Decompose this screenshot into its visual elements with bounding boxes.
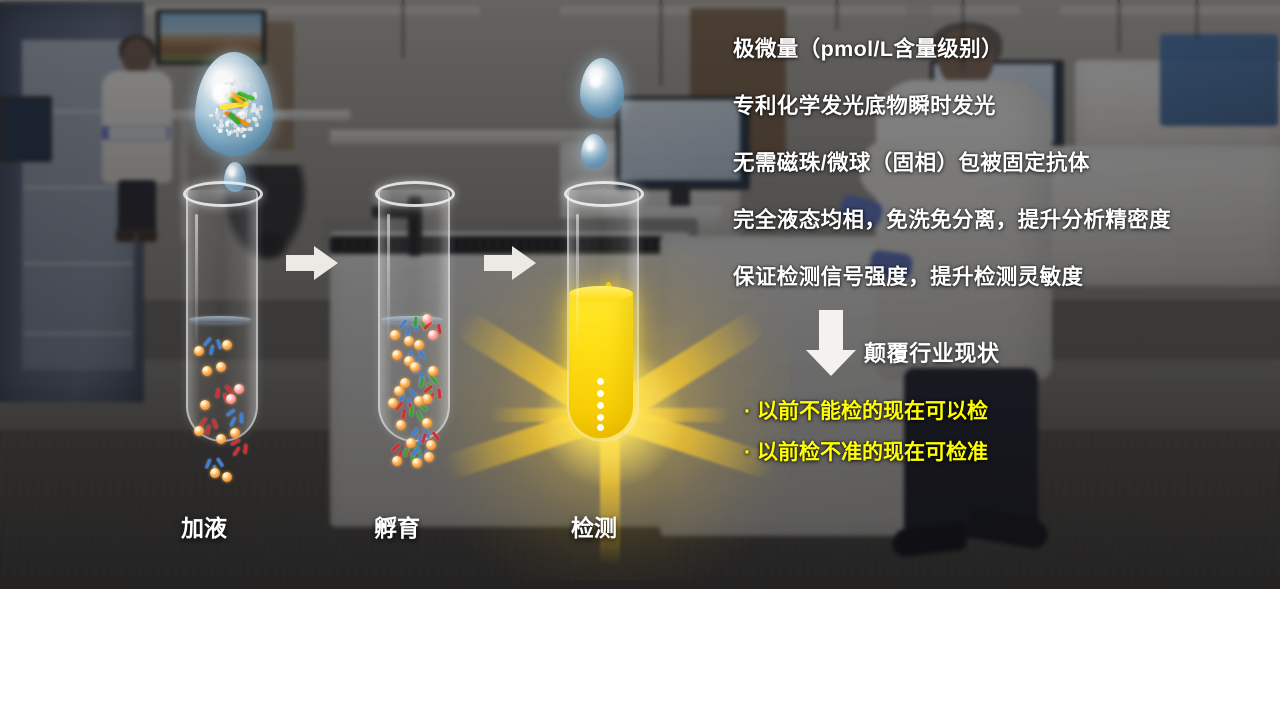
bullet-marker: · [744, 441, 751, 465]
bottom-white-margin [0, 589, 1280, 720]
conclusion-point-2-text: 以前检不准的现在可检准 [757, 441, 988, 464]
molecule-atom [219, 93, 222, 96]
step-label-2: 孵育 [374, 509, 420, 543]
molecule-atom [216, 92, 219, 95]
molecule-atom [226, 87, 229, 90]
conclusion-point-1: ·以前不能检的现在可以检 [744, 395, 988, 425]
antigen-particle [392, 456, 402, 466]
bubble [597, 424, 604, 431]
antigen-particle [428, 330, 438, 340]
arrow-shaft [819, 310, 843, 352]
antigen-particle [388, 398, 398, 408]
arrow-right-icon [286, 246, 338, 280]
antigen-particle [428, 366, 438, 376]
feature-line-4: 完全液态均相，免洗免分离，提升分析精密度 [733, 203, 1171, 234]
antigen-particle [226, 394, 236, 404]
tube-rim [183, 181, 263, 207]
molecule-atom [227, 94, 232, 99]
step-label-1: 加液 [181, 509, 227, 543]
molecule-atom [216, 101, 220, 105]
molecule-atom [220, 84, 224, 88]
molecule-atom [259, 105, 263, 109]
molecule-atom [237, 127, 241, 131]
antigen-particle [390, 330, 400, 340]
antigen-particle [424, 452, 434, 462]
antigen-particle [400, 378, 410, 388]
molecule-atom [218, 129, 222, 133]
feature-line-5: 保证检测信号强度，提升检测灵敏度 [733, 260, 1083, 291]
tube-rim [564, 181, 644, 207]
molecule-atom [258, 115, 262, 119]
antigen-particle [392, 350, 402, 360]
bubble [597, 402, 604, 409]
antigen-particle [422, 418, 432, 428]
molecule-atom [226, 129, 228, 131]
molecule-atom [239, 78, 242, 81]
tube-rim [375, 181, 455, 207]
molecule-atom [227, 87, 232, 92]
antigen-particle [414, 396, 424, 406]
antigen-particle [414, 340, 424, 350]
molecule-atom [255, 123, 258, 126]
feature-line-2: 专利化学发光底物瞬时发光 [733, 89, 996, 120]
arrow-head [314, 246, 338, 280]
conclusion-heading: 颠覆行业现状 [864, 336, 1000, 368]
antigen-particle [230, 428, 240, 438]
glass-highlight [195, 214, 198, 352]
conclusion-point-1-text: 以前不能检的现在可以检 [757, 400, 988, 423]
molecule-atom [214, 90, 218, 94]
antigen-particle [426, 440, 436, 450]
arrow-right-icon [484, 246, 536, 280]
step-label-3: 检测 [571, 509, 617, 543]
antigen-particle [194, 426, 204, 436]
feature-line-1: 极微量（pmol/L含量级别） [733, 32, 1003, 63]
molecule-atom [221, 88, 224, 91]
feature-line-3: 无需磁珠/微球（固相）包被固定抗体 [733, 146, 1090, 177]
arrow-head [806, 350, 856, 376]
antigen-particle [404, 336, 414, 346]
bullet-marker: · [744, 400, 751, 424]
antigen-particle [410, 362, 420, 372]
arrow-down-icon [806, 310, 856, 376]
molecule-atom [242, 127, 244, 129]
molecule-atom [228, 88, 230, 90]
test-tube-step-1 [186, 190, 254, 440]
antigen-particle [216, 362, 226, 372]
arrow-shaft [286, 255, 316, 271]
molecule-atom [242, 134, 246, 138]
test-tube-step-3 [567, 190, 635, 440]
molecule-atom [214, 92, 218, 96]
antigen-particle [202, 366, 212, 376]
molecule-atom [215, 98, 218, 101]
conclusion-point-2: ·以前检不准的现在可检准 [744, 436, 988, 466]
slide-canvas: 加液 孵育 检测 极微量（pmol/L含量级别） 专利化学发光底物瞬时发光 无需… [0, 0, 1280, 720]
molecule-atom [225, 93, 229, 97]
molecule-atom [248, 127, 252, 131]
antigen-particle [222, 472, 232, 482]
molecule-atom [216, 97, 220, 101]
test-tube-step-2 [378, 190, 446, 440]
molecule-atom [222, 88, 226, 92]
bubble [597, 414, 604, 421]
antigen-particle [216, 434, 226, 444]
antigen-particle [200, 400, 210, 410]
antigen-particle [234, 384, 244, 394]
molecule-atom [242, 110, 244, 112]
molecule-atom [222, 92, 225, 95]
molecule-atom [246, 83, 250, 87]
arrow-head [512, 246, 536, 280]
molecule-atom [224, 91, 227, 94]
liquid-surface [189, 316, 251, 323]
glass-highlight [576, 214, 579, 352]
molecule-atom [209, 114, 212, 117]
molecule-atom [216, 108, 219, 111]
bubble [597, 390, 604, 397]
antigen-particle [396, 420, 406, 430]
antigen-particle [194, 346, 204, 356]
antigen-particle [222, 340, 232, 350]
molecule-atom [236, 134, 239, 137]
water-droplet-icon-small [581, 134, 607, 168]
molecule-cluster-icon [206, 75, 262, 139]
antigen-particle [422, 314, 432, 324]
bubble [597, 378, 604, 385]
antigen-particle [412, 458, 422, 468]
molecule-atom [219, 119, 223, 123]
arrow-shaft [484, 255, 514, 271]
antibody-y-icon [202, 336, 222, 356]
antigen-particle [210, 468, 220, 478]
antigen-particle [406, 438, 416, 448]
glass-highlight [387, 214, 390, 352]
